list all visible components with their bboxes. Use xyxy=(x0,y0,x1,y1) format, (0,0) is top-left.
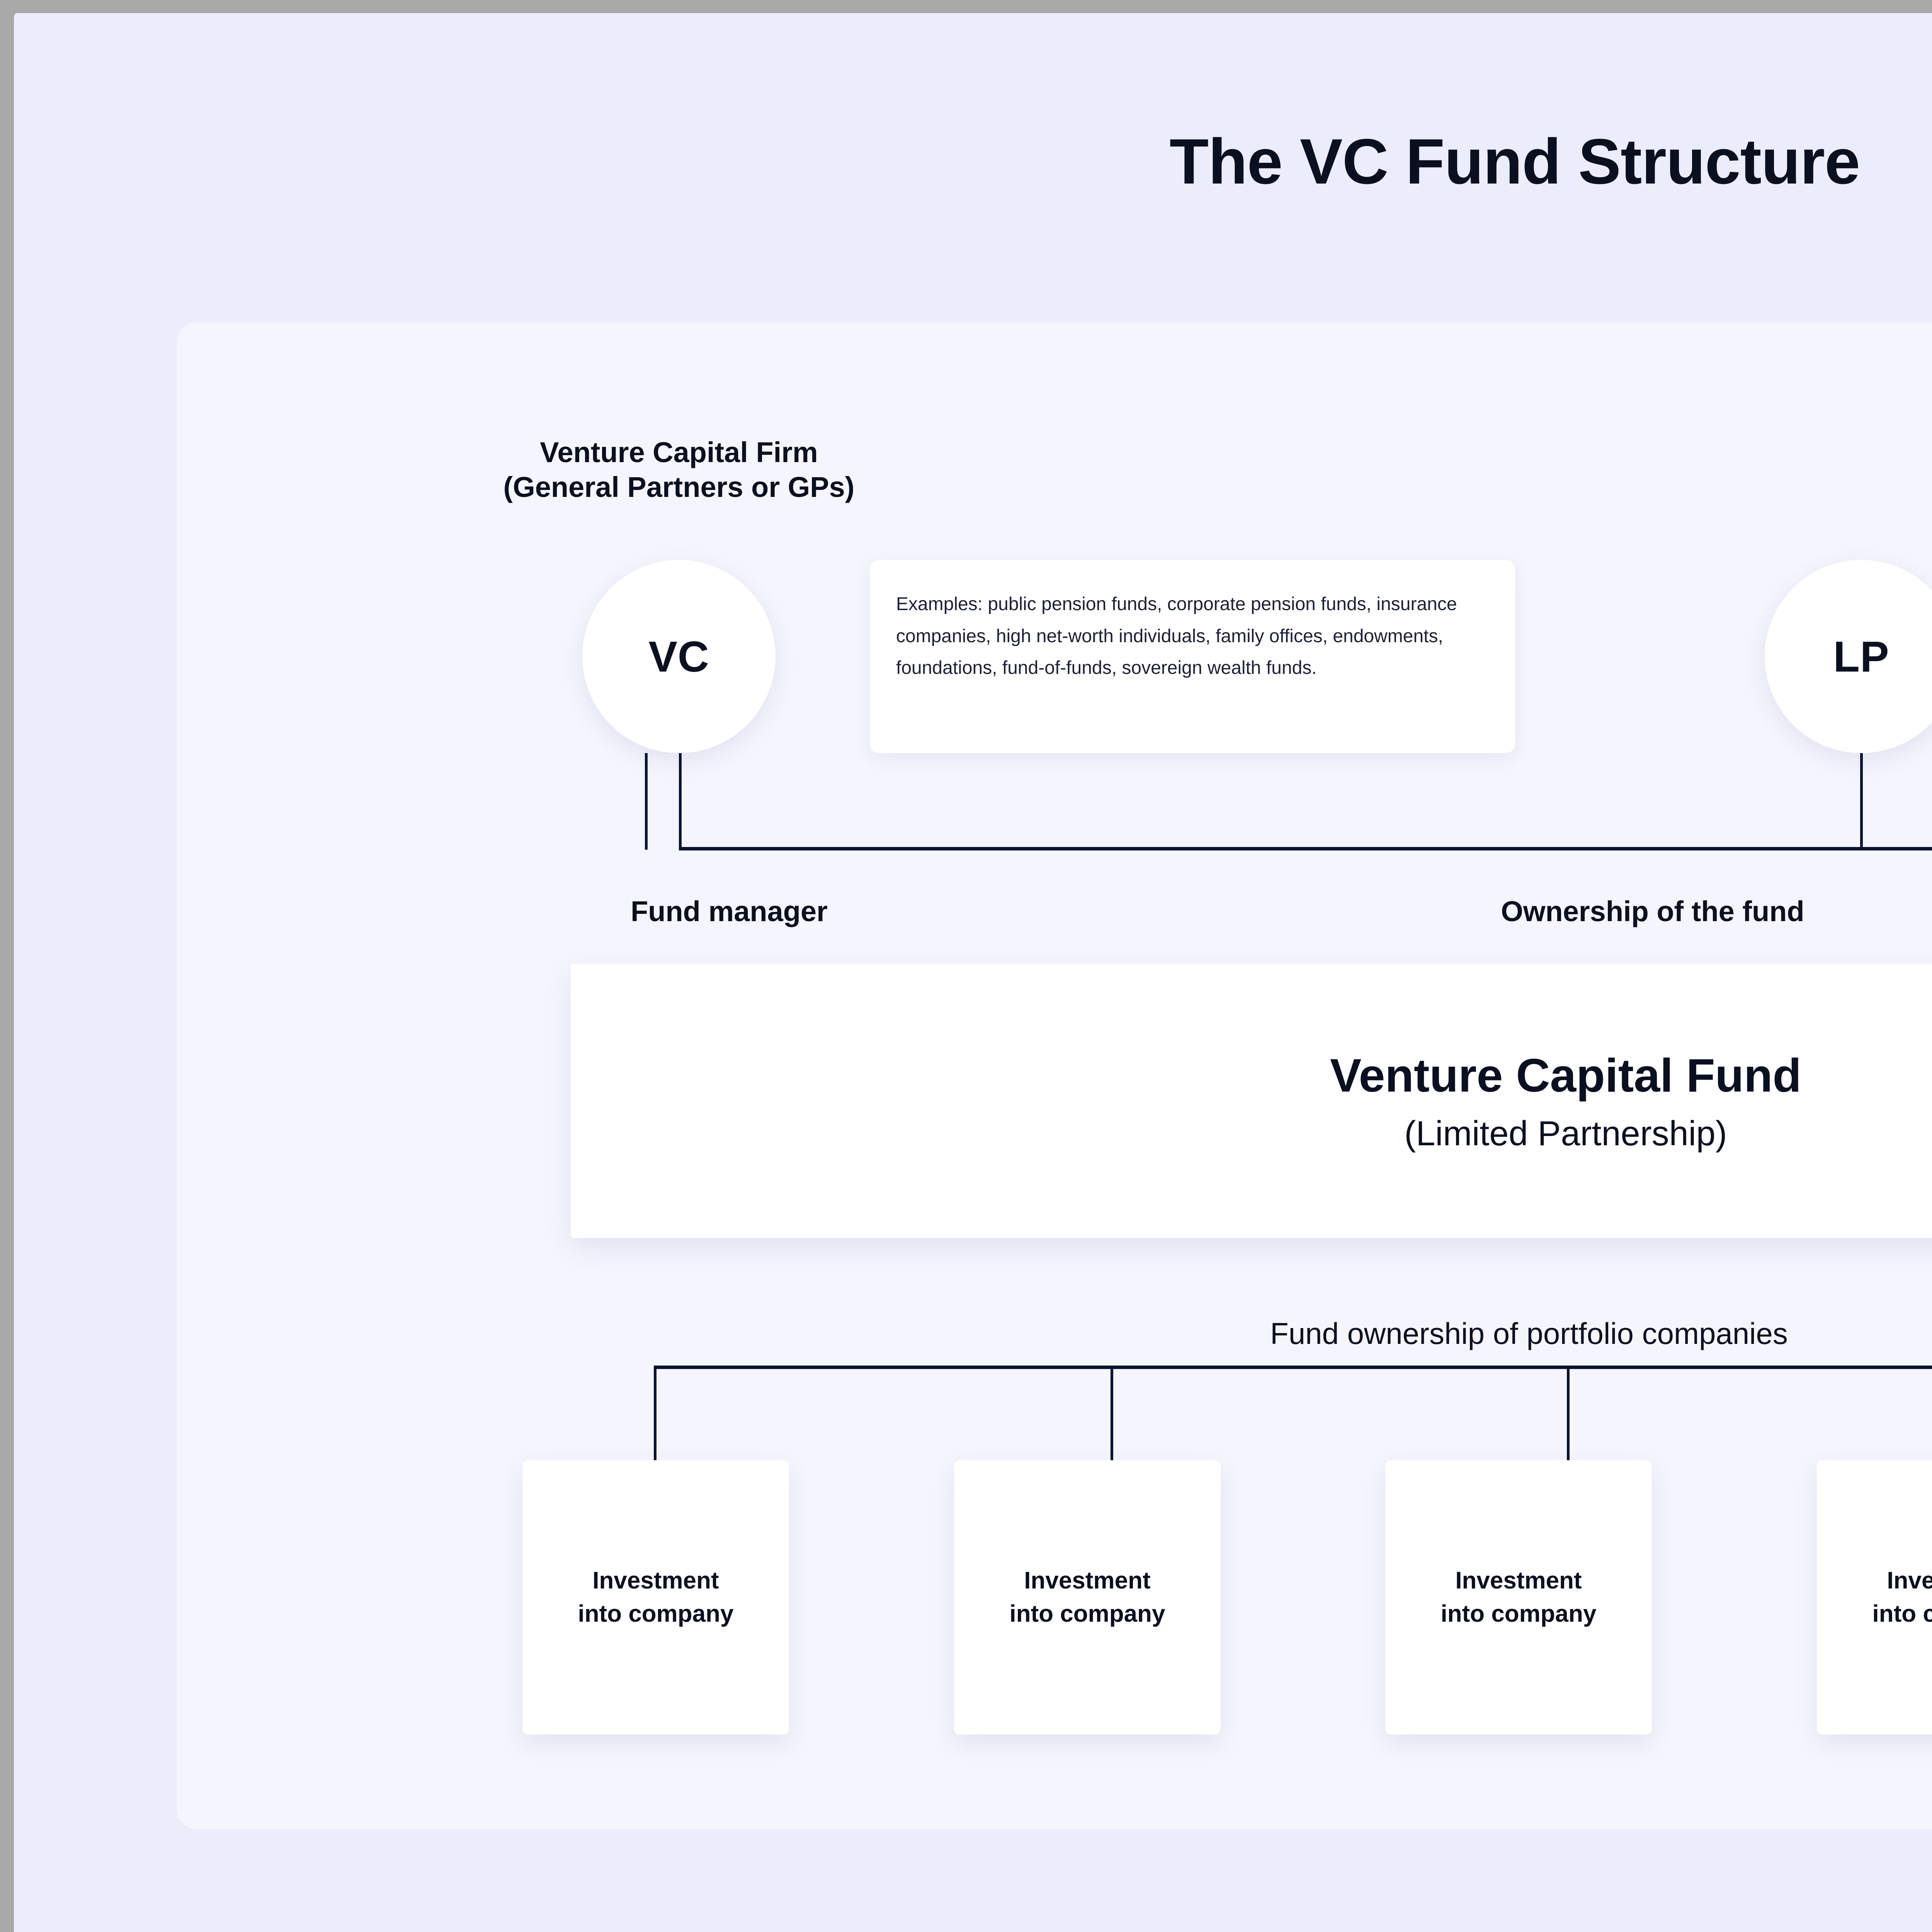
diagram-card: Venture Capital Firm (General Partners o… xyxy=(177,322,1932,1829)
investment-box[interactable]: Investment into company xyxy=(954,1460,1221,1735)
portfolio-horizontal-connector xyxy=(654,1366,1932,1369)
ownership-horizontal-connector xyxy=(679,847,1932,850)
lp-node-label: LP xyxy=(1833,632,1889,682)
investment-box-label: Investment into company xyxy=(1440,1564,1596,1630)
examples-tooltip: Examples: public pension funds, corporat… xyxy=(870,560,1515,753)
vc-node[interactable]: VC xyxy=(582,560,776,753)
lp-node[interactable]: LP xyxy=(1765,560,1932,753)
portfolio-ownership-caption: Fund ownership of portfolio companies xyxy=(872,1315,1932,1352)
investment-box-label: Investment into company xyxy=(1009,1564,1165,1630)
vc-node-label: VC xyxy=(648,632,709,682)
vc-stub-connector xyxy=(645,753,648,850)
portfolio-connector xyxy=(1567,1366,1570,1461)
vc-group-label: Venture Capital Firm (General Partners o… xyxy=(447,435,911,505)
fund-box-title: Venture Capital Fund xyxy=(1330,1048,1801,1102)
investment-box-label: Investment into company xyxy=(1872,1564,1932,1630)
fund-manager-label: Fund manager xyxy=(536,894,922,929)
page-title: The VC Fund Structure xyxy=(14,125,1932,199)
fund-box-subtitle: (Limited Partnership) xyxy=(1404,1114,1727,1154)
investment-box[interactable]: Investment into company xyxy=(522,1460,789,1735)
diagram-page: The VC Fund Structure Venture Capital Fi… xyxy=(14,13,1932,1932)
ownership-of-the-fund-label: Ownership of the fund xyxy=(1274,894,1932,929)
portfolio-connector xyxy=(654,1366,656,1461)
investment-box[interactable]: Investment into company xyxy=(1385,1460,1652,1735)
examples-tooltip-text: Examples: public pension funds, corporat… xyxy=(896,588,1489,684)
investment-box[interactable]: Investment into company xyxy=(1817,1460,1932,1735)
investment-box-label: Investment into company xyxy=(578,1564,733,1630)
lp-group-label: Limited Partners (LPs, Investors) xyxy=(1745,478,1932,513)
window-frame: The VC Fund Structure Venture Capital Fi… xyxy=(0,0,1932,1932)
venture-capital-fund-box: Venture Capital Fund (Limited Partnershi… xyxy=(571,964,1932,1238)
lp-connector xyxy=(1860,753,1863,850)
vc-join-connector xyxy=(679,753,682,850)
portfolio-connector xyxy=(1111,1366,1113,1461)
